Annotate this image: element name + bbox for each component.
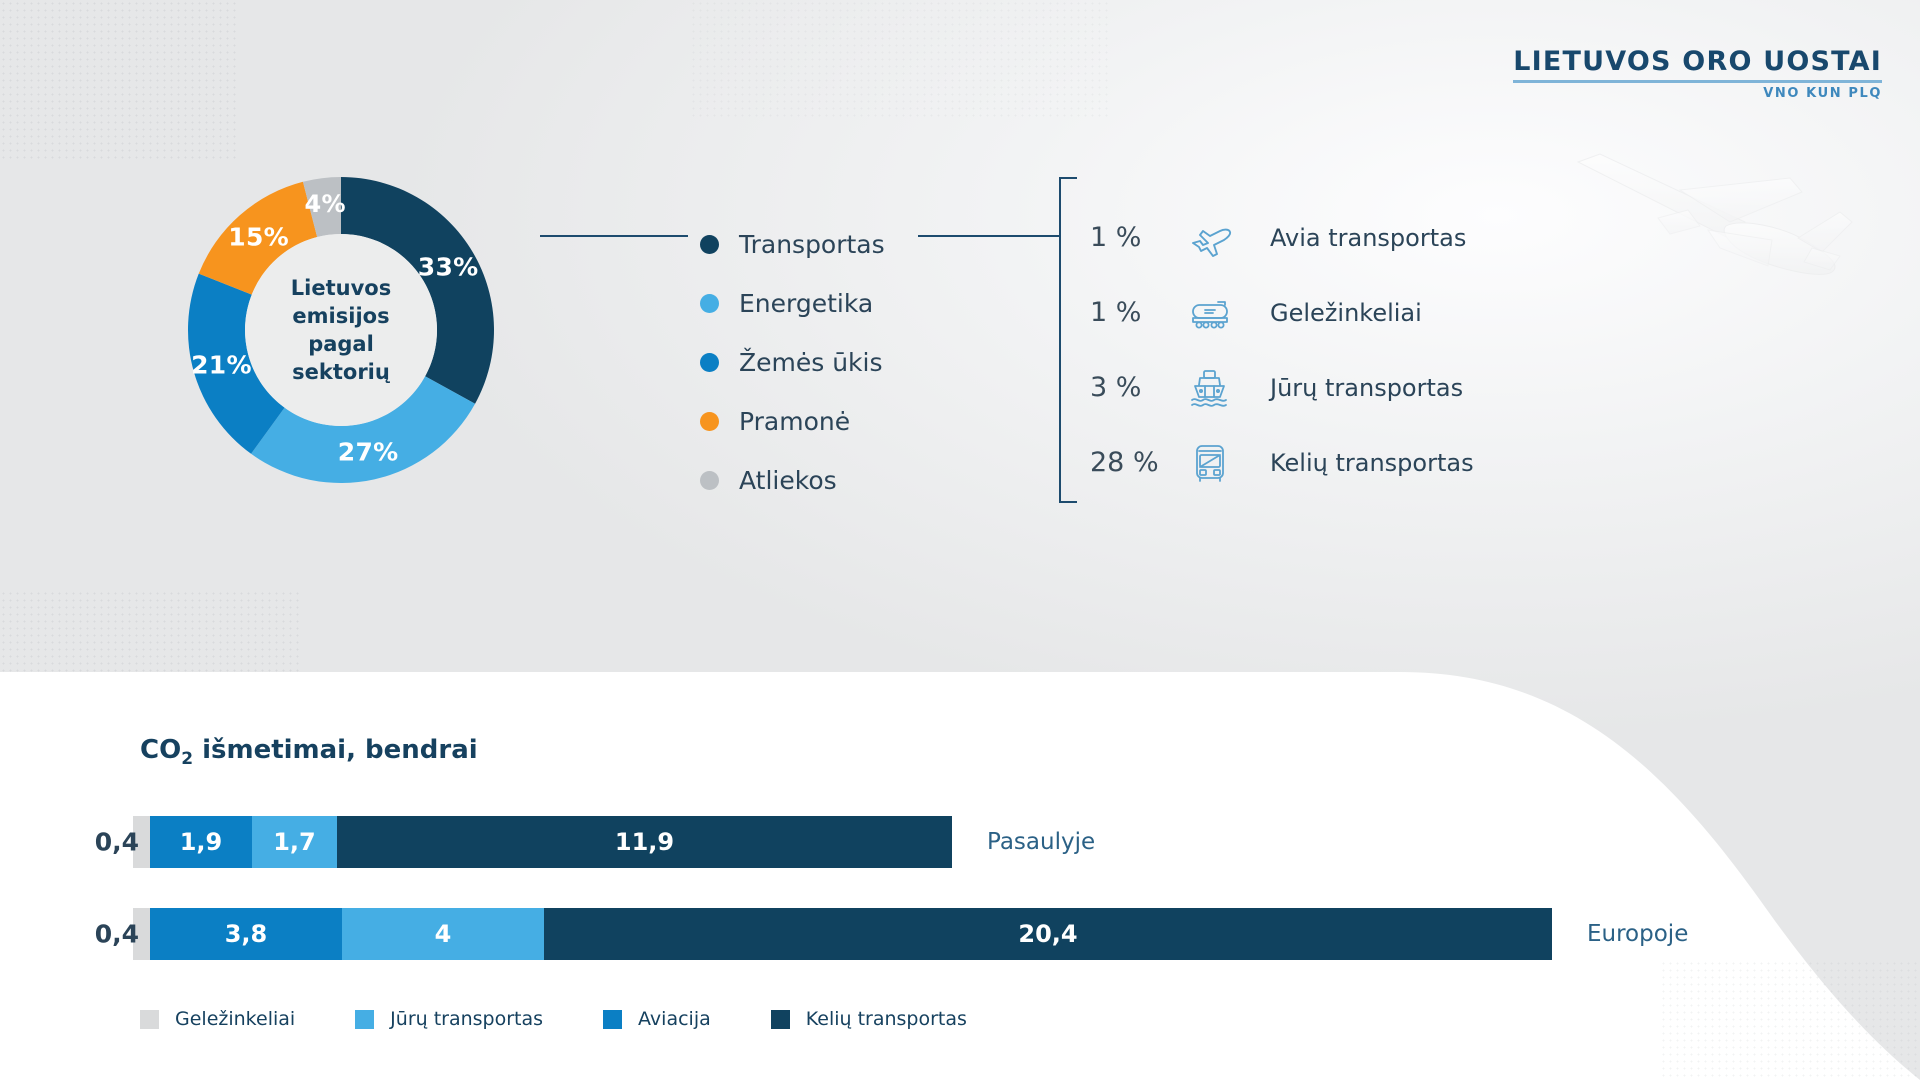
breakdown-label: Geležinkeliai bbox=[1270, 299, 1422, 327]
sector-legend-item-transportas[interactable]: Transportas bbox=[700, 215, 885, 274]
connector-line-legend-to-bracket bbox=[918, 235, 1061, 237]
bar-segment: 1,9 bbox=[150, 816, 252, 868]
legend-swatch-icon bbox=[603, 1010, 622, 1029]
bar-legend-item-aviacija[interactable]: Aviacija bbox=[603, 1008, 711, 1030]
bar-legend-item-kelių-transportas[interactable]: Kelių transportas bbox=[771, 1008, 967, 1030]
legend-swatch-icon bbox=[355, 1010, 374, 1029]
bar-legend-label: Aviacija bbox=[638, 1008, 711, 1030]
logo-wordmark: LIETUVOS ORO UOSTAI bbox=[1513, 48, 1882, 75]
legend-swatch-icon bbox=[140, 1010, 159, 1029]
breakdown-row-avia-transportas: 1 %Avia transportas bbox=[1090, 200, 1474, 275]
breakdown-row-geležinkeliai: 1 %Geležinkeliai bbox=[1090, 275, 1474, 350]
connector-line-donut-to-legend bbox=[540, 235, 688, 237]
legend-dot-icon bbox=[700, 471, 719, 490]
breakdown-row-kelių-transportas: 28 %Kelių transportas bbox=[1090, 425, 1474, 500]
sector-legend-item-atliekos[interactable]: Atliekos bbox=[700, 451, 885, 510]
bar-segment: 4 bbox=[342, 908, 544, 960]
emissions-donut-chart: Lietuvosemisijospagalsektorių 33%27%21%1… bbox=[186, 175, 496, 485]
breakdown-percent: 1 % bbox=[1090, 222, 1178, 253]
bar-title-subscript: 2 bbox=[181, 749, 193, 769]
train-icon bbox=[1178, 293, 1242, 333]
breakdown-label: Avia transportas bbox=[1270, 224, 1466, 252]
bar-title-prefix: CO bbox=[140, 735, 181, 765]
bar-segment: 3,8 bbox=[150, 908, 342, 960]
bar-segment: 1,7 bbox=[252, 816, 337, 868]
breakdown-row-jūrų-transportas: 3 %Jūrų transportas bbox=[1090, 350, 1474, 425]
infographic-page: LIETUVOS ORO UOSTAI VNO KUN PLQ Lietuvos… bbox=[0, 0, 1920, 1080]
bar-chart-legend: GeležinkeliaiJūrų transportasAviacijaKel… bbox=[140, 1008, 1027, 1030]
sector-legend-label: Energetika bbox=[739, 289, 873, 318]
sector-legend-item-žemės-ūkis[interactable]: Žemės ūkis bbox=[700, 333, 885, 392]
breakdown-bracket bbox=[1059, 177, 1077, 503]
logo-airport-codes: VNO KUN PLQ bbox=[1513, 87, 1882, 100]
bar-row-pasaulyje: 1,91,711,9 bbox=[133, 816, 952, 868]
sector-legend: TransportasEnergetikaŽemės ūkisPramonėAt… bbox=[700, 215, 885, 510]
bus-icon bbox=[1178, 442, 1242, 484]
bar-segment: 20,4 bbox=[544, 908, 1552, 960]
bar-legend-label: Jūrų transportas bbox=[390, 1008, 543, 1030]
brand-logo: LIETUVOS ORO UOSTAI VNO KUN PLQ bbox=[1513, 48, 1882, 100]
sector-legend-item-pramonė[interactable]: Pramonė bbox=[700, 392, 885, 451]
breakdown-percent: 1 % bbox=[1090, 297, 1178, 328]
bar-legend-label: Geležinkeliai bbox=[175, 1008, 295, 1030]
bar-row-europoje: 3,8420,4 bbox=[133, 908, 1552, 960]
donut-inner-disc bbox=[245, 234, 437, 426]
breakdown-label: Jūrų transportas bbox=[1270, 374, 1463, 402]
bar-legend-item-jūrų-transportas[interactable]: Jūrų transportas bbox=[355, 1008, 543, 1030]
breakdown-percent: 3 % bbox=[1090, 372, 1178, 403]
sector-legend-label: Žemės ūkis bbox=[739, 348, 883, 377]
legend-dot-icon bbox=[700, 412, 719, 431]
sector-legend-label: Atliekos bbox=[739, 466, 837, 495]
logo-underline bbox=[1513, 80, 1882, 83]
legend-dot-icon bbox=[700, 235, 719, 254]
transport-breakdown-list: 1 %Avia transportas1 %Geležinkeliai3 %Jū… bbox=[1090, 200, 1474, 500]
legend-swatch-icon bbox=[771, 1010, 790, 1029]
bar-legend-label: Kelių transportas bbox=[806, 1008, 967, 1030]
bar-outside-value: 0,4 bbox=[95, 828, 139, 857]
bar-row-label: Europoje bbox=[1587, 921, 1688, 947]
bar-chart-title: CO2 išmetimai, bendrai bbox=[140, 735, 478, 769]
bar-outside-value: 0,4 bbox=[95, 920, 139, 949]
donut-svg bbox=[186, 175, 496, 485]
breakdown-label: Kelių transportas bbox=[1270, 449, 1474, 477]
bar-segment: 11,9 bbox=[337, 816, 952, 868]
bar-legend-item-geležinkeliai[interactable]: Geležinkeliai bbox=[140, 1008, 295, 1030]
sector-legend-label: Transportas bbox=[739, 230, 885, 259]
ship-icon bbox=[1178, 367, 1242, 409]
sector-legend-item-energetika[interactable]: Energetika bbox=[700, 274, 885, 333]
bar-row-label: Pasaulyje bbox=[987, 829, 1095, 855]
legend-dot-icon bbox=[700, 353, 719, 372]
sector-legend-label: Pramonė bbox=[739, 407, 850, 436]
breakdown-percent: 28 % bbox=[1090, 447, 1178, 478]
airplane-icon bbox=[1178, 218, 1242, 258]
legend-dot-icon bbox=[700, 294, 719, 313]
bar-title-suffix: išmetimai, bendrai bbox=[193, 735, 478, 765]
